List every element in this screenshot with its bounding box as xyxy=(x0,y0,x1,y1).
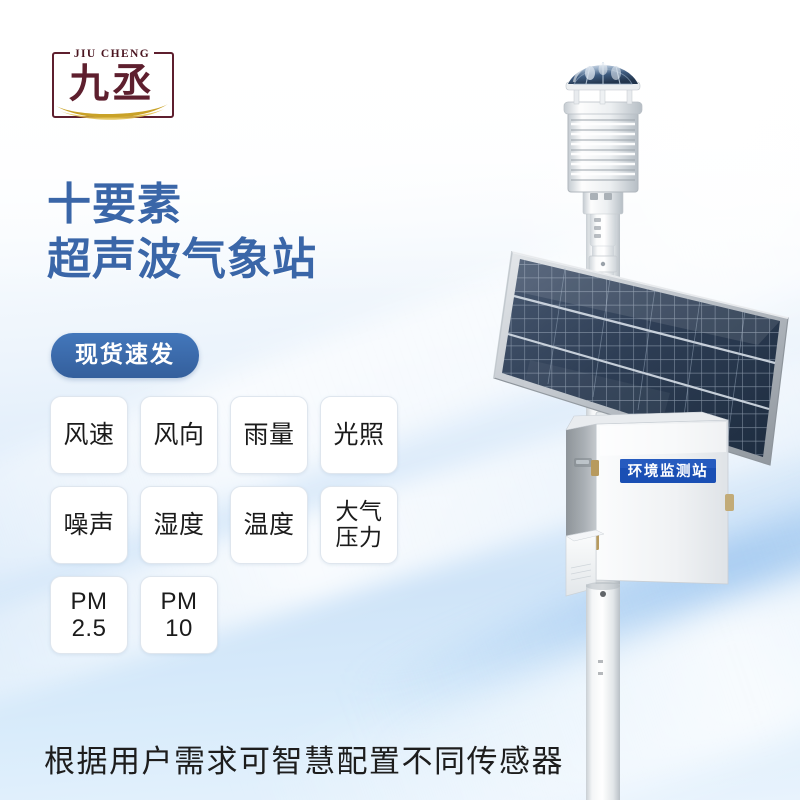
status-badge: 现货速发 xyxy=(51,333,199,378)
cabinet-hinge xyxy=(591,460,599,476)
feature-tile[interactable]: 噪声 xyxy=(50,486,128,564)
feature-tile-grid: 风速 风向 雨量 光照 噪声 湿度 温度 大气 压力 PM 2.5 PM 10 xyxy=(50,396,430,666)
feature-tile[interactable]: PM 10 xyxy=(140,576,218,654)
tile-label: 风速 xyxy=(63,421,114,449)
logo-swoosh-icon xyxy=(54,102,170,124)
tile-label: 湿度 xyxy=(153,511,204,539)
brand-pinyin: JIU CHENG xyxy=(70,48,154,60)
svg-text:环境监测站: 环境监测站 xyxy=(628,462,709,480)
tile-label: 大气 压力 xyxy=(336,499,383,551)
tile-label: PM 10 xyxy=(161,588,198,642)
cabinet-latch xyxy=(725,494,734,511)
feature-tile[interactable]: 雨量 xyxy=(230,396,308,474)
page-title: 十要素 超声波气象站 xyxy=(47,178,467,288)
tile-label: 温度 xyxy=(243,511,294,539)
product-photo: 环境监测站 xyxy=(470,60,800,800)
tile-row: 风速 风向 雨量 光照 xyxy=(50,396,430,474)
ultrasonic-wind-sensor-dome xyxy=(566,62,640,90)
tile-row: PM 2.5 PM 10 xyxy=(50,576,430,654)
headline-line-2: 超声波气象站 xyxy=(47,232,467,288)
poster-canvas: JIU CHENG 九丞 十要素 超声波气象站 现货速发 风速 风向 雨量 光照… xyxy=(0,0,800,800)
feature-tile[interactable]: 风向 xyxy=(140,396,218,474)
louvered-radiation-shield xyxy=(568,112,638,192)
feature-tile[interactable]: 光照 xyxy=(320,396,398,474)
feature-tile[interactable]: 风速 xyxy=(50,396,128,474)
tile-label: 雨量 xyxy=(243,421,294,449)
feature-tile[interactable]: 湿度 xyxy=(140,486,218,564)
tile-label: 噪声 xyxy=(63,511,114,539)
feature-tile[interactable]: PM 2.5 xyxy=(50,576,128,654)
brand-logo: JIU CHENG 九丞 xyxy=(46,40,186,132)
mounting-pole-lower xyxy=(586,584,620,800)
tile-row: 噪声 湿度 温度 大气 压力 xyxy=(50,486,430,564)
pole-bolt xyxy=(600,591,606,597)
tile-label: PM 2.5 xyxy=(71,588,108,642)
brand-chinese-name: 九丞 xyxy=(56,60,168,108)
equipment-cabinet: 环境监测站 xyxy=(566,412,734,596)
cabinet-label: 环境监测站 xyxy=(620,459,716,483)
feature-tile[interactable]: 大气 压力 xyxy=(320,486,398,564)
tile-label: 光照 xyxy=(333,421,384,449)
feature-tile[interactable]: 温度 xyxy=(230,486,308,564)
tile-label: 风向 xyxy=(153,421,204,449)
headline-line-1: 十要素 xyxy=(47,178,467,232)
